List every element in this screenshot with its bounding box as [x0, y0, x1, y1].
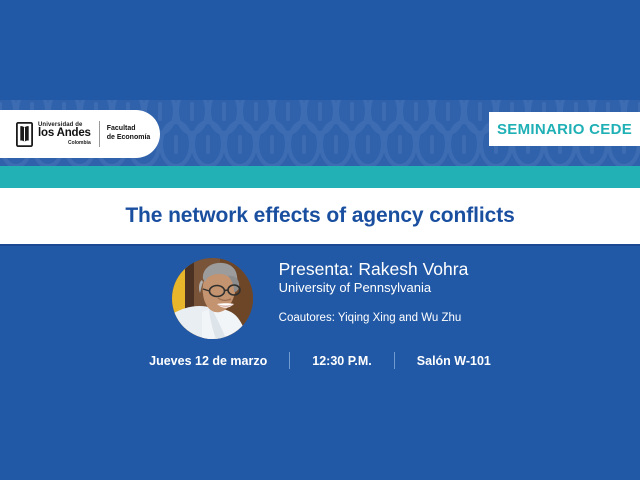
- event-time: 12:30 P.M.: [312, 354, 372, 368]
- logo-text-group: Universidad de los Andes Colombia Facult…: [38, 121, 150, 147]
- seminar-poster: Universidad de los Andes Colombia Facult…: [0, 0, 640, 480]
- faculty-line-1: Facultad: [107, 125, 151, 134]
- presenter-name: Presenta: Rakesh Vohra: [279, 259, 469, 279]
- seminar-cede-badge: SEMINARIO CEDE: [489, 112, 640, 146]
- logo-divider: [99, 121, 100, 147]
- details-separator-2: [394, 352, 395, 369]
- speaker-block: Presenta: Rakesh Vohra University of Pen…: [0, 255, 640, 345]
- logo-line-losandes: los Andes: [38, 128, 91, 140]
- page-title: The network effects of agency conflicts: [125, 204, 514, 228]
- open-book-icon: [16, 122, 33, 147]
- logo-faculty: Facultad de Economía: [107, 125, 151, 143]
- title-band: The network effects of agency conflicts: [0, 188, 640, 246]
- logo-wordmark: Universidad de los Andes Colombia: [38, 122, 91, 146]
- details-separator-1: [289, 352, 290, 369]
- faculty-line-2: de Economía: [107, 134, 151, 143]
- presenter-affiliation: University of Pennsylvania: [279, 280, 469, 296]
- event-date: Jueves 12 de marzo: [149, 354, 267, 368]
- speaker-details: Presenta: Rakesh Vohra University of Pen…: [279, 255, 469, 324]
- event-details: Jueves 12 de marzo 12:30 P.M. Salón W-10…: [0, 352, 640, 369]
- coauthors: Coautores: Yiqing Xing and Wu Zhu: [279, 312, 469, 324]
- avatar: [172, 258, 253, 339]
- logo-line-colombia: Colombia: [38, 141, 91, 146]
- seminar-cede-label: SEMINARIO CEDE: [497, 121, 632, 138]
- teal-divider-bar: [0, 166, 640, 188]
- university-logo: Universidad de los Andes Colombia Facult…: [0, 110, 160, 158]
- event-room: Salón W-101: [417, 354, 491, 368]
